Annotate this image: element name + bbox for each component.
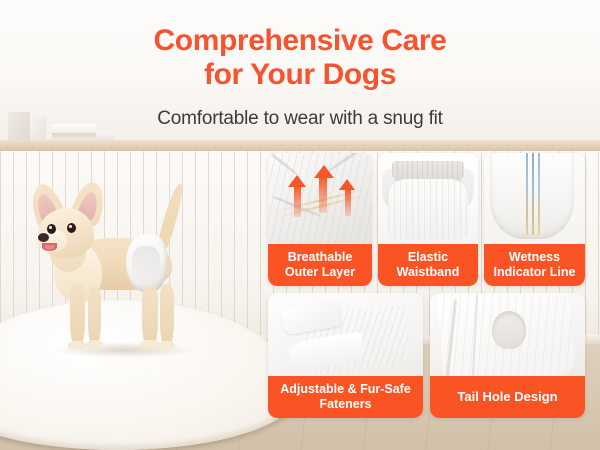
feature-label-line-1: Tail Hole Design: [457, 389, 557, 404]
feature-label-line-2: Waistband: [397, 265, 460, 279]
feature-label-line-2: Indicator Line: [494, 265, 576, 279]
product-feature-banner: Comprehensive Care for Your Dogs Comfort…: [0, 0, 600, 450]
tail-hole-opening: [492, 311, 526, 349]
feature-card-adjustable-fur-safe-fateners[interactable]: Adjustable & Fur-Safe Fateners: [268, 293, 423, 418]
wetness-indicator-stripe: [538, 153, 540, 235]
feature-photo-elastic-waistband: [378, 153, 478, 244]
headline-line-2: for Your Dogs: [0, 58, 600, 92]
diaper-fabric-texture: [268, 153, 372, 244]
wooden-ledge: [0, 140, 600, 151]
diaper-fastener-closeup: [268, 293, 423, 376]
feature-label-wetness-indicator-line: Wetness Indicator Line: [484, 244, 585, 286]
dog-back-leg-left: [142, 286, 158, 346]
dog-eye-highlight: [69, 225, 72, 228]
dog-paw: [158, 341, 175, 350]
feature-label-line-2: Outer Layer: [285, 265, 355, 279]
wetness-indicator-stripe: [526, 153, 528, 235]
dog-paw: [68, 341, 86, 350]
feature-photo-tail-hole-design: [430, 293, 585, 376]
fabric-crease: [268, 153, 299, 176]
feature-label-tail-hole-design: Tail Hole Design: [430, 376, 585, 418]
feature-card-breathable-outer-layer[interactable]: Breathable Outer Layer: [268, 153, 372, 286]
diaper-tail-hole-closeup: [430, 293, 585, 376]
feature-label-line-1: Wetness: [509, 250, 560, 264]
feature-label-breathable-outer-layer: Breathable Outer Layer: [268, 244, 372, 286]
feature-label-line-1: Elastic: [408, 250, 448, 264]
feature-label-line-1: Breathable: [288, 250, 353, 264]
feature-photo-wetness-indicator-line: [484, 153, 585, 244]
dog-photo: [14, 186, 226, 361]
dog-front-leg-right: [88, 286, 101, 346]
feature-card-elastic-waistband[interactable]: Elastic Waistband: [378, 153, 478, 286]
diaper-indicator-closeup: [484, 153, 585, 244]
feature-label-line-1: Adjustable & Fur-Safe: [280, 382, 411, 396]
wetness-indicator-stripe: [532, 153, 534, 235]
feature-label-adjustable-fur-safe-fateners: Adjustable & Fur-Safe Fateners: [268, 376, 423, 418]
diaper-body: [388, 179, 468, 239]
feature-label-elastic-waistband: Elastic Waistband: [378, 244, 478, 286]
dog-paw: [140, 340, 159, 349]
dog-tongue: [45, 245, 54, 250]
dog-front-leg-left: [70, 284, 85, 346]
feature-label-line-2: Fateners: [319, 397, 371, 411]
page-title: Comprehensive Care for Your Dogs: [0, 24, 600, 91]
feature-card-tail-hole-design[interactable]: Tail Hole Design: [430, 293, 585, 418]
feature-card-wetness-indicator-line[interactable]: Wetness Indicator Line: [484, 153, 585, 286]
dog-nose: [38, 233, 49, 242]
dog-back-leg-right: [160, 284, 174, 346]
dog-paw: [86, 340, 103, 349]
dog-eye-highlight: [49, 226, 52, 229]
diaper-waistband-closeup: [378, 153, 478, 244]
dog-diaper-fold: [132, 246, 160, 280]
feature-photo-breathable-outer-layer: [268, 153, 372, 244]
feature-photo-adjustable-fur-safe-fateners: [268, 293, 423, 376]
headline-line-1: Comprehensive Care: [154, 24, 447, 57]
subtitle: Comfortable to wear with a snug fit: [0, 108, 600, 130]
